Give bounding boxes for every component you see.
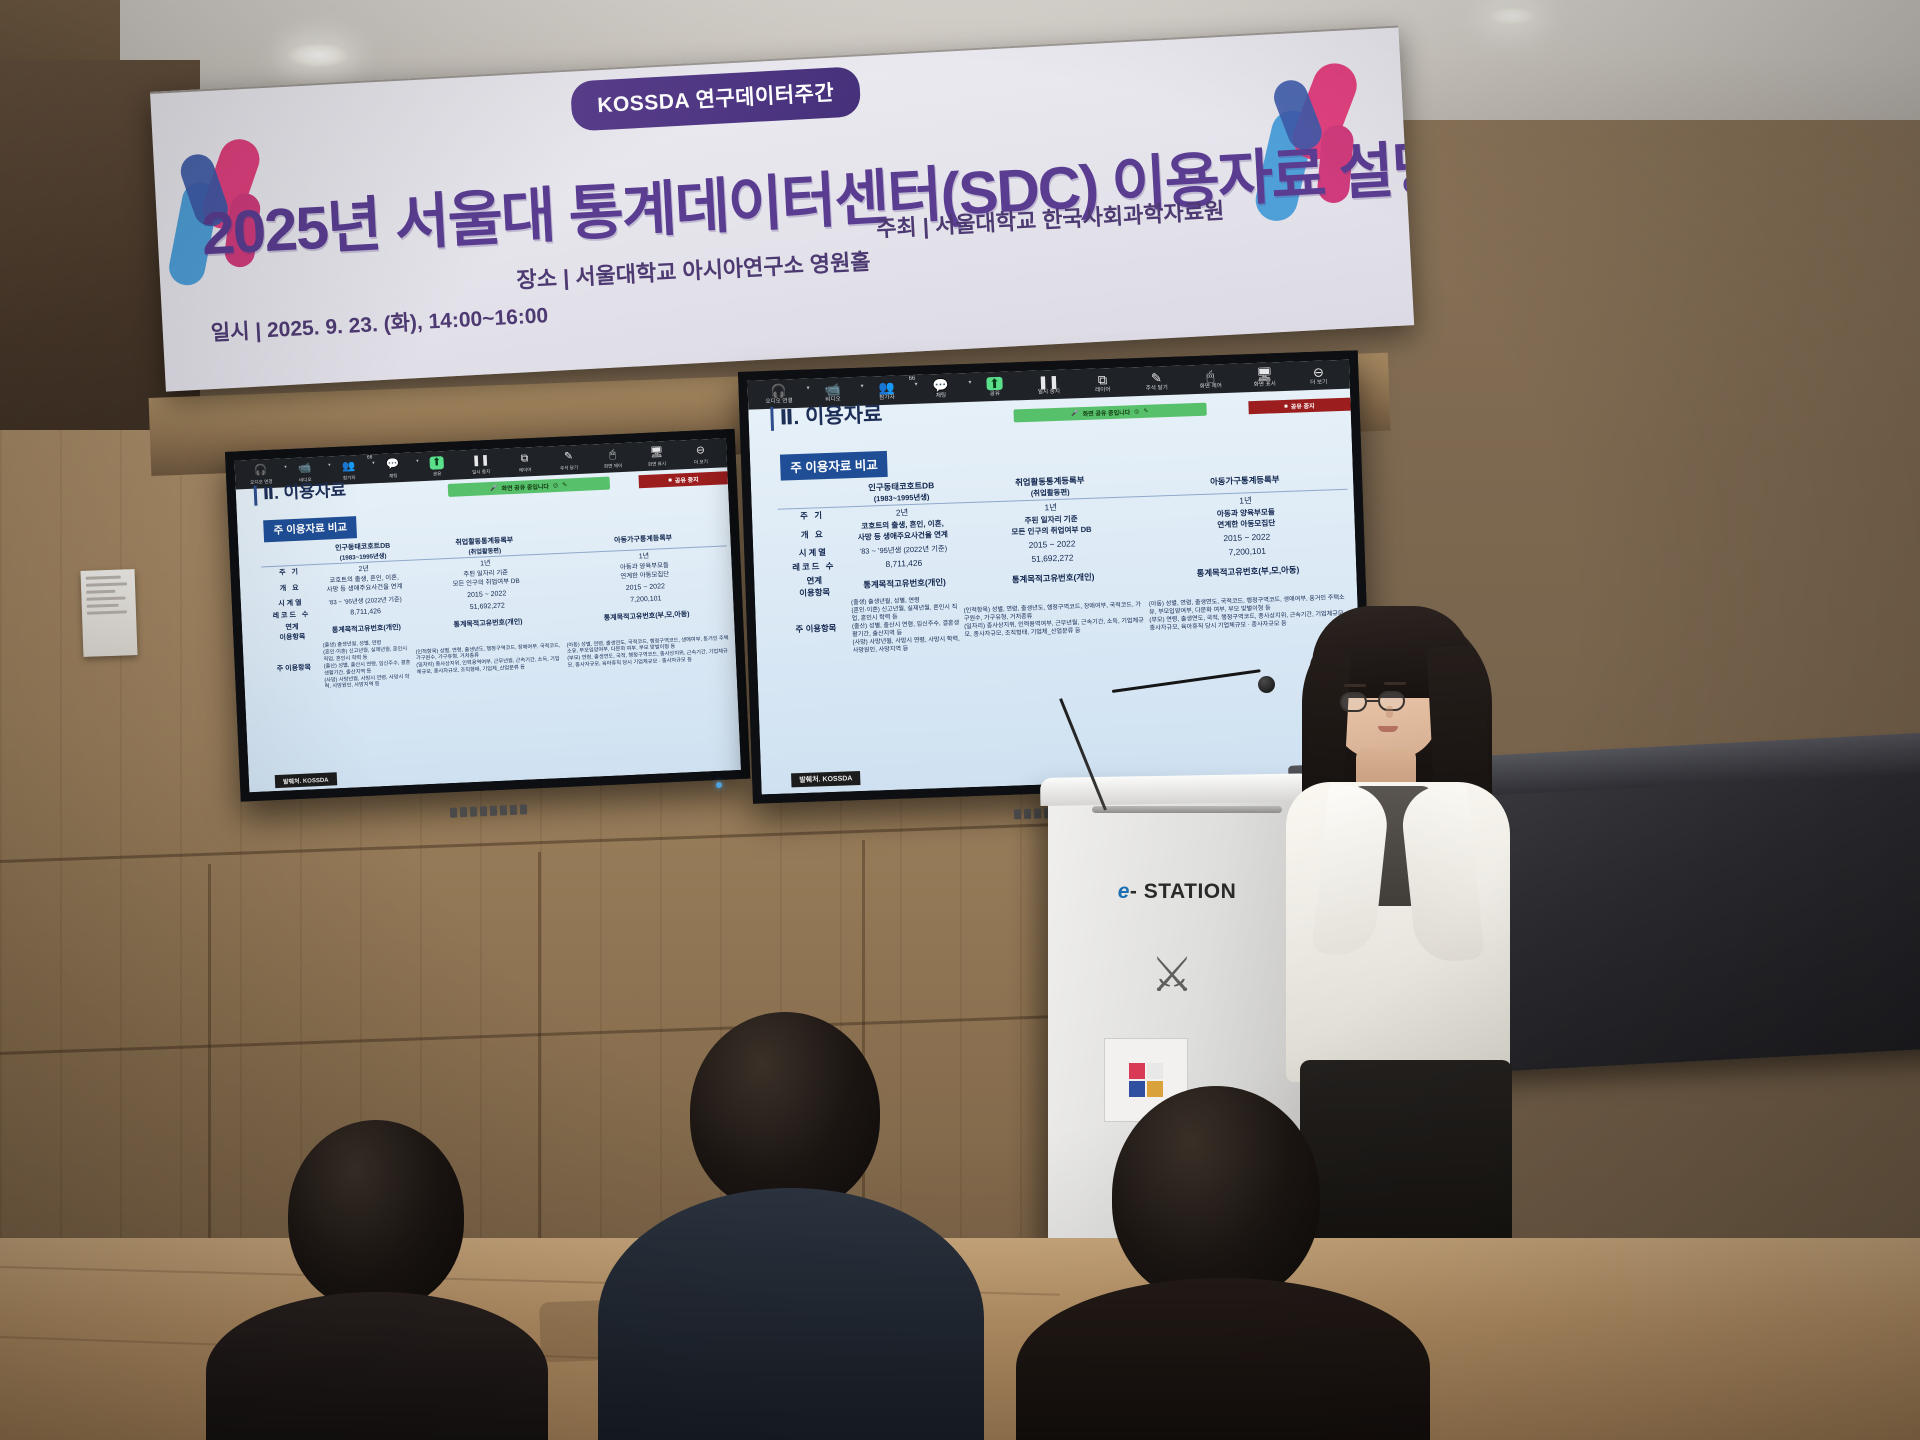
remote-control-icon: 🖱 bbox=[1206, 369, 1214, 382]
share-screen-icon: ⬆ bbox=[429, 456, 445, 470]
zoom-toolbar-button-display[interactable]: 🖥화면 표시 bbox=[634, 443, 679, 469]
wall-seam-vertical bbox=[208, 864, 211, 1254]
ceiling-light bbox=[1488, 6, 1536, 26]
wall-notice-sign bbox=[81, 569, 138, 657]
slide-badge-left: 주 이용자료 비교 bbox=[263, 516, 357, 542]
headset-icon: 🎧 bbox=[254, 464, 268, 478]
zoom-toolbar-button-pause[interactable]: ❚❚일시 중지 bbox=[458, 451, 503, 477]
cell: (아동) 성별, 연령, 출생연도, 국적코드, 행정구역코드, 생애여부, 동… bbox=[564, 624, 733, 682]
more-icon: ⊖ bbox=[696, 444, 706, 457]
screen-share-status-left: 🎤 화면 공유 중입니다 ◎ ✎ bbox=[447, 477, 610, 497]
zoom-toolbar-button-display[interactable]: 🖥화면 표시 bbox=[1237, 365, 1292, 391]
zoom-toolbar-button-label: 일시 중지 bbox=[1038, 389, 1060, 397]
zoom-toolbar-button-label: 화면 표시 bbox=[648, 460, 666, 468]
stop-square-icon: ■ bbox=[668, 477, 672, 483]
zoom-toolbar-button-more[interactable]: ⊖더 보기 bbox=[678, 441, 723, 467]
slide-credit-right: 발췌처. KOSSDA bbox=[791, 771, 861, 787]
row-label: 주 이용항목 bbox=[781, 599, 851, 660]
zoom-toolbar-button-label: 공유 bbox=[433, 470, 442, 477]
display-icon: 🖥 bbox=[1256, 367, 1273, 381]
video-off-icon: 📹 bbox=[298, 462, 312, 476]
zoom-toolbar-button-pencil[interactable]: ✎주석 달기 bbox=[1129, 368, 1184, 394]
zoom-toolbar-button-more[interactable]: ⊖더 보기 bbox=[1291, 363, 1346, 389]
row-label: 연계 이용항목 bbox=[264, 620, 321, 645]
zoom-toolbar-button-share-screen[interactable]: ⬆공유 bbox=[967, 374, 1022, 400]
mic-icon: 🎤 bbox=[1071, 410, 1079, 417]
audience-head bbox=[690, 1012, 880, 1212]
cell: (출생) 출생년월, 성별, 연령 (혼인·이혼) 신고년월, 실제년월, 혼인… bbox=[321, 638, 416, 692]
audience-head bbox=[1112, 1086, 1320, 1304]
pause-icon: ❚❚ bbox=[1037, 375, 1059, 389]
share-status-label: 화면 공유 중입니다 bbox=[1083, 407, 1131, 418]
wall-seam-vertical bbox=[538, 852, 541, 1252]
brand-e-glyph: e bbox=[1118, 880, 1130, 903]
presenter-glasses-left bbox=[1340, 692, 1367, 712]
audience-shoulders bbox=[206, 1292, 548, 1440]
comparison-table-left: 인구동태코호트DB (1983~1995년생) 취업활동통계등록부 (취업활동편… bbox=[260, 524, 732, 694]
zoom-toolbar-button-label: 화면 제어 bbox=[604, 462, 622, 470]
zoom-toolbar-button-layer[interactable]: ⧉레이어 bbox=[502, 449, 547, 475]
participants-icon: 👥 bbox=[342, 460, 356, 474]
logo-quad-icon bbox=[1129, 1063, 1163, 1097]
zoom-toolbar-button-pencil[interactable]: ✎주석 달기 bbox=[546, 447, 591, 473]
slide-right: 🎧▾오디오 연결📹▾비디오👥66▾참가자💬▾채팅⬆공유❚❚일시 중지⧉레이어✎주… bbox=[747, 360, 1363, 795]
ceiling-light bbox=[288, 42, 348, 68]
layer-icon: ⧉ bbox=[1098, 373, 1108, 386]
share-status-label: 화면 공유 중입니다 bbox=[501, 481, 549, 492]
zoom-toolbar-button-label: 공유 bbox=[990, 391, 1001, 398]
cell: (인적항목) 성별, 연령, 출생년도, 행정구역코드, 장애여부, 국적코드,… bbox=[961, 588, 1148, 653]
zoom-toolbar-button-remote-control[interactable]: 🖱화면 제어 bbox=[590, 445, 635, 471]
slide-left: 🎧▾오디오 연결📹▾비디오👥66▾참가자💬▾채팅⬆공유❚❚일시 중지⧉레이어✎주… bbox=[234, 438, 741, 792]
col-header-1: 인구동태코호트DB (1983~1995년생) bbox=[845, 477, 958, 506]
university-crest-icon: ⚔ bbox=[1126, 938, 1218, 1012]
audience-head bbox=[288, 1120, 464, 1310]
corner-cell bbox=[777, 481, 846, 509]
slide-badge-right: 주 이용자료 비교 bbox=[780, 451, 888, 481]
zoom-toolbar-button-label: 채팅 bbox=[389, 472, 398, 479]
display-screen-left: 🎧▾오디오 연결📹▾비디오👥66▾참가자💬▾채팅⬆공유❚❚일시 중지⧉레이어✎주… bbox=[225, 429, 750, 802]
zoom-toolbar-button-pause[interactable]: ❚❚일시 중지 bbox=[1021, 372, 1076, 398]
screen-left-content: 🎧▾오디오 연결📹▾비디오👥66▾참가자💬▾채팅⬆공유❚❚일시 중지⧉레이어✎주… bbox=[234, 438, 741, 792]
zoom-toolbar-button-label: 더 보기 bbox=[1310, 379, 1327, 387]
chat-icon: 💬 bbox=[932, 379, 949, 393]
cell: 통계목적고유번호(개인) bbox=[848, 569, 961, 599]
row-label: 개 요 bbox=[262, 577, 319, 599]
microphone-head-icon bbox=[1258, 676, 1275, 693]
slide-chapter-left: Ⅱ. 이용자료 bbox=[253, 476, 346, 506]
chapter-bar bbox=[770, 407, 774, 431]
remote-control-icon: 🖱 bbox=[609, 448, 616, 461]
stop-share-label: 공유 중지 bbox=[675, 475, 699, 485]
pencil-icon: ✎ bbox=[564, 450, 574, 463]
corner-cell bbox=[260, 543, 317, 567]
zoom-toolbar-button-label: 화면 제어 bbox=[1200, 383, 1222, 391]
pause-share-icon[interactable]: ◎ bbox=[553, 482, 559, 489]
wall-seam-vertical bbox=[862, 840, 865, 1250]
headset-icon: 🎧 bbox=[770, 384, 787, 398]
zoom-toolbar-button-label: 더 보기 bbox=[694, 458, 708, 466]
annotate-icon[interactable]: ✎ bbox=[562, 482, 567, 489]
stop-share-label: 공유 중지 bbox=[1291, 401, 1315, 411]
slide-chapter-right: Ⅱ. 이용자료 bbox=[770, 398, 883, 432]
pencil-icon: ✎ bbox=[1151, 371, 1162, 384]
display-screen-right: 🎧▾오디오 연결📹▾비디오👥66▾참가자💬▾채팅⬆공유❚❚일시 중지⧉레이어✎주… bbox=[738, 350, 1373, 803]
cell: (출생) 출생년월, 성별, 연령 (혼인·이혼) 신고년월, 실제년월, 혼인… bbox=[849, 595, 963, 657]
lectern-brand-label: e- STATION bbox=[1072, 880, 1282, 904]
zoom-toolbar-button-label: 채팅 bbox=[936, 393, 947, 400]
screen-left-power-led bbox=[716, 782, 722, 788]
audience-shoulders bbox=[598, 1188, 984, 1440]
display-icon: 🖥 bbox=[649, 446, 663, 460]
mic-icon: 🎤 bbox=[490, 485, 498, 492]
lectern-edge-slot bbox=[1092, 806, 1282, 813]
conference-photo-scene: KOSSDA 연구데이터주간 2025년 서울대 통계데이터센터(SDC) 이용… bbox=[0, 0, 1920, 1440]
more-icon: ⊖ bbox=[1313, 366, 1324, 379]
row-label: 연계 이용항목 bbox=[780, 573, 849, 601]
chapter-bar bbox=[254, 485, 258, 505]
layer-icon: ⧉ bbox=[521, 452, 529, 465]
stop-square-icon: ■ bbox=[1284, 403, 1288, 409]
zoom-toolbar-button-label: 일시 중지 bbox=[472, 468, 490, 476]
zoom-toolbar-button-chat[interactable]: 💬▾채팅 bbox=[913, 376, 968, 402]
annotate-icon[interactable]: ✎ bbox=[1143, 408, 1148, 415]
zoom-toolbar-button-layer[interactable]: ⧉레이어 bbox=[1075, 370, 1130, 396]
comparison-table-right: 인구동태코호트DB (1983~1995년생) 취업활동통계등록부 (취업활동편… bbox=[777, 464, 1353, 659]
presenter-mouth bbox=[1378, 726, 1398, 732]
zoom-toolbar-button-label: 화면 표시 bbox=[1254, 381, 1276, 389]
presenter-brow-left bbox=[1344, 684, 1366, 687]
chat-icon: 💬 bbox=[386, 458, 400, 472]
share-screen-icon: ⬆ bbox=[986, 377, 1003, 391]
row-label: 개 요 bbox=[778, 521, 847, 547]
video-off-icon: 📹 bbox=[824, 382, 841, 396]
slide-credit-left: 발췌처. KOSSDA bbox=[275, 772, 337, 788]
banner-pill-badge: KOSSDA 연구데이터주간 bbox=[570, 66, 861, 131]
presenter-skirt bbox=[1300, 1060, 1512, 1260]
presenter-brow-right bbox=[1384, 682, 1406, 685]
lectern-top-surface bbox=[1040, 773, 1312, 806]
zoom-toolbar-button-label: 주석 달기 bbox=[560, 464, 578, 472]
screen-share-status-right: 🎤 화면 공유 중입니다 ◎ ✎ bbox=[1013, 403, 1206, 423]
banner-date: 일시 | 2025. 9. 23. (화), 14:00~16:00 bbox=[210, 299, 549, 347]
cell: (인적항목) 성별, 연령, 출생년도, 행정구역코드, 장애여부, 국적코드,… bbox=[413, 631, 566, 688]
presenter-glasses-bridge bbox=[1367, 700, 1378, 702]
zoom-toolbar-button-share-screen[interactable]: ⬆공유 bbox=[414, 453, 459, 479]
presenter-nose bbox=[1386, 706, 1393, 718]
row-label: 주 이용항목 bbox=[265, 642, 323, 695]
zoom-toolbar-button-label: 주석 달기 bbox=[1146, 385, 1168, 393]
zoom-toolbar-button-label: 레이어 bbox=[1095, 387, 1111, 395]
screen-right-content: 🎧▾오디오 연결📹▾비디오👥66▾참가자💬▾채팅⬆공유❚❚일시 중지⧉레이어✎주… bbox=[747, 360, 1363, 795]
stop-share-button-left[interactable]: ■ 공유 중지 bbox=[639, 471, 728, 488]
participants-icon: 👥 bbox=[878, 381, 895, 395]
zoom-toolbar-button-chat[interactable]: 💬▾채팅 bbox=[370, 455, 415, 481]
pause-share-icon[interactable]: ◎ bbox=[1134, 408, 1139, 415]
stop-share-button-right[interactable]: ■ 공유 중지 bbox=[1248, 398, 1351, 415]
zoom-toolbar-button-label: 레이어 bbox=[519, 466, 532, 474]
pause-icon: ❚❚ bbox=[471, 454, 489, 468]
zoom-toolbar-button-remote-control[interactable]: 🖱화면 제어 bbox=[1183, 367, 1238, 393]
